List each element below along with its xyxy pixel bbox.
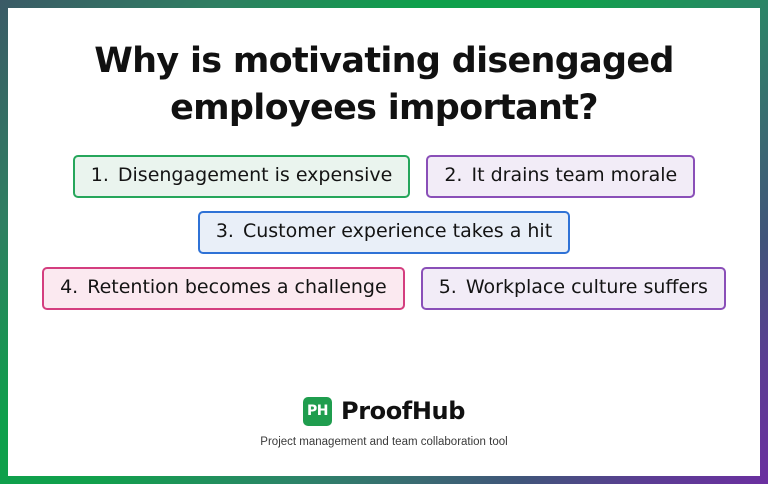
points-row: 1.Disengagement is expensive2.It drains … (8, 155, 760, 198)
point-number: 2. (444, 166, 462, 186)
point-number: 1. (91, 166, 109, 186)
point-number: 4. (60, 278, 78, 298)
point-item-4[interactable]: 4.Retention becomes a challenge (42, 267, 405, 310)
points-row: 3.Customer experience takes a hit (8, 211, 760, 254)
point-label: It drains team morale (471, 166, 677, 186)
points-row: 4.Retention becomes a challenge5.Workpla… (8, 267, 760, 310)
brand-block: PH ProofHub Project management and team … (8, 397, 760, 449)
point-number: 3. (216, 222, 234, 242)
point-item-5[interactable]: 5.Workplace culture suffers (421, 267, 726, 310)
brand-mark-label: PH (307, 404, 328, 418)
brand-tagline: Project management and team collaboratio… (260, 437, 507, 449)
point-item-3[interactable]: 3.Customer experience takes a hit (198, 211, 570, 254)
point-label: Disengagement is expensive (118, 166, 392, 186)
brand-name: ProofHub (341, 399, 465, 423)
point-item-1[interactable]: 1.Disengagement is expensive (73, 155, 411, 198)
point-label: Retention becomes a challenge (87, 278, 386, 298)
brand-lockup: PH ProofHub (303, 397, 465, 426)
page-title-line-2: employees important? (64, 85, 704, 132)
page-title: Why is motivating disengaged employees i… (64, 8, 704, 131)
page-title-line-1: Why is motivating disengaged (64, 38, 704, 85)
point-number: 5. (439, 278, 457, 298)
point-label: Workplace culture suffers (466, 278, 708, 298)
card-inner: Why is motivating disengaged employees i… (8, 8, 760, 476)
infographic-card: Why is motivating disengaged employees i… (0, 0, 768, 484)
point-item-2[interactable]: 2.It drains team morale (426, 155, 695, 198)
proofhub-logo-icon: PH (303, 397, 332, 426)
point-label: Customer experience takes a hit (243, 222, 552, 242)
points-list: 1.Disengagement is expensive2.It drains … (8, 155, 760, 323)
